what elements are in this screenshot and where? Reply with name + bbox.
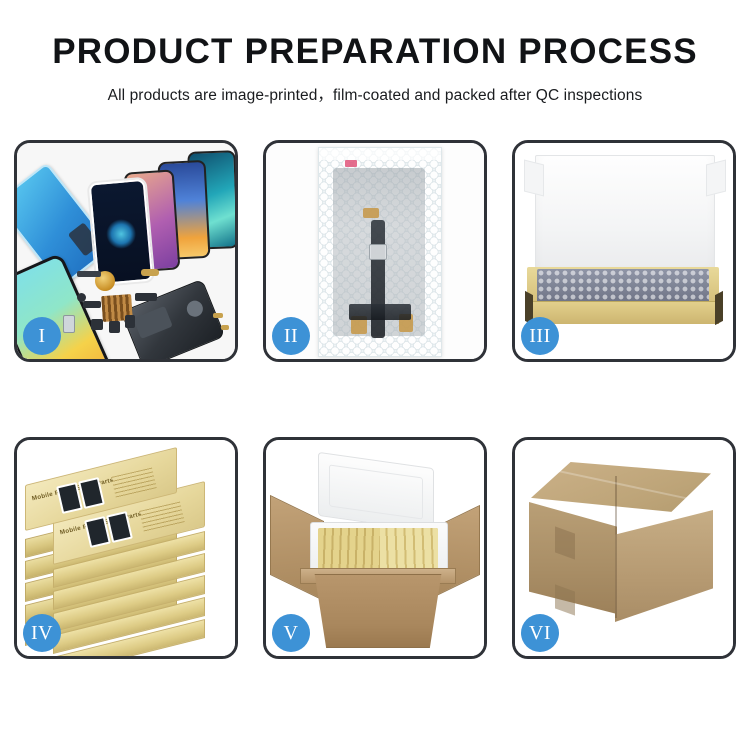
small-part-screw-b [221, 325, 229, 330]
step-panel-1[interactable]: I [14, 140, 238, 362]
step-panel-4[interactable]: Mobile Phone Spare Parts Mobile Phone Sp… [14, 437, 238, 659]
step-badge-2: II [272, 317, 310, 355]
driver-ic-chip [369, 244, 387, 260]
foam-box-lid [318, 452, 434, 532]
page-subtitle: All products are image-printed，film-coat… [0, 83, 750, 105]
small-part-strip [77, 271, 101, 277]
small-part-flex-b [135, 293, 157, 301]
product-preparation-infographic: PRODUCT PREPARATION PROCESS All products… [0, 0, 750, 750]
small-part-flex-a [83, 301, 101, 308]
box-edge-right [715, 291, 723, 325]
foam-padding [537, 269, 709, 303]
step-badge-1: I [23, 317, 61, 355]
small-part-camera [125, 315, 135, 328]
page-title: PRODUCT PREPARATION PROCESS [0, 34, 750, 71]
step-panel-5[interactable]: V [263, 437, 487, 659]
step-badge-3: III [521, 317, 559, 355]
carton-front-panel [306, 574, 450, 648]
connector-bar [349, 304, 411, 320]
step-panel-6[interactable]: VI [512, 437, 736, 659]
carton-corner-seam [615, 476, 617, 618]
step-badge-6: VI [521, 614, 559, 652]
carton-right-face [615, 510, 713, 622]
flex-pad-top [363, 208, 379, 218]
flex-cable [371, 220, 385, 338]
step-badge-5: V [272, 614, 310, 652]
small-part-speaker [109, 321, 120, 333]
small-part-bracket-a [91, 319, 103, 330]
small-part-button [77, 293, 86, 302]
header: PRODUCT PREPARATION PROCESS All products… [0, 0, 750, 105]
step-panel-3[interactable]: III [512, 140, 736, 362]
phone-back-housing [121, 279, 226, 359]
bubble-wrap-bag [318, 147, 442, 357]
qc-label-mark [345, 160, 357, 167]
step-panel-2[interactable]: II [263, 140, 487, 362]
small-part-gold-bracket [141, 269, 159, 276]
yellow-boxes-row-right [380, 528, 438, 572]
bag-seal [319, 148, 441, 160]
foam-box-interior [318, 528, 438, 572]
box-tray-front [527, 301, 719, 324]
step-badge-4: IV [23, 614, 61, 652]
small-part-screw-a [213, 313, 223, 318]
steps-grid: I II [14, 140, 736, 659]
box-lid-white [535, 155, 715, 279]
small-part-sim-tray [63, 315, 75, 333]
